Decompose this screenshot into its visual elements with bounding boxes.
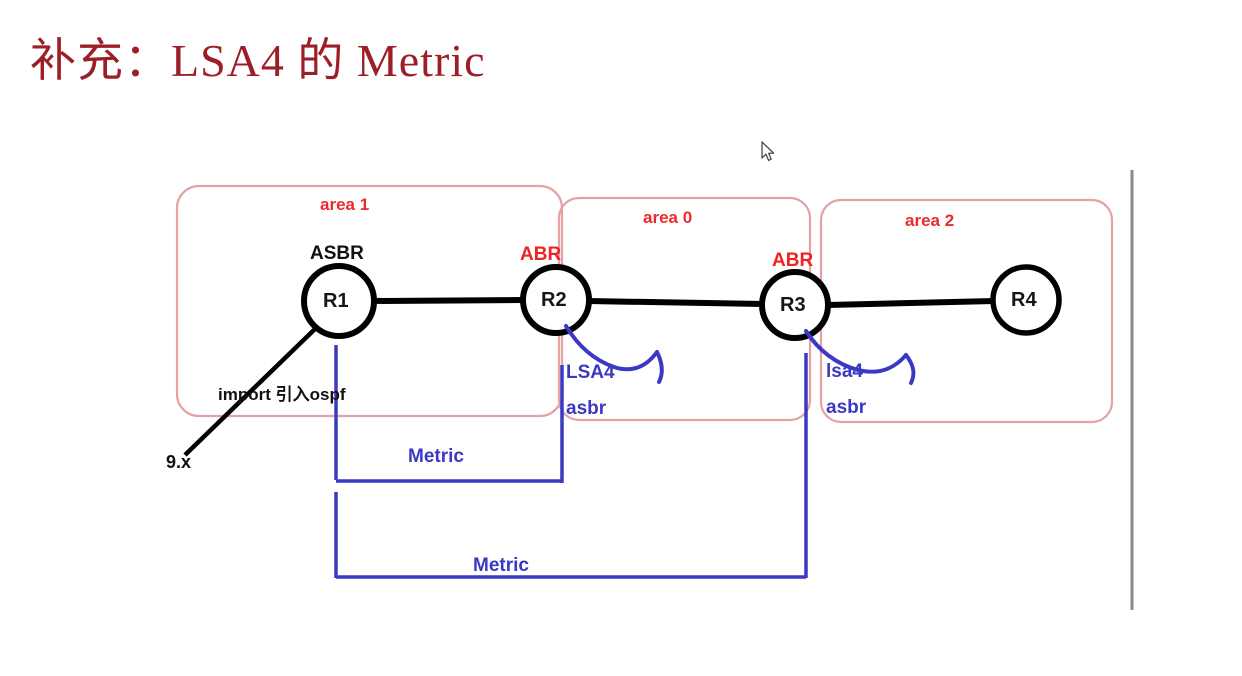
lsa-type-label-r2: LSA4: [566, 362, 615, 384]
external-network-label: 9.x: [166, 452, 191, 473]
lsa-arrowhead-r3: [906, 355, 913, 383]
lsa-id-label-r3: asbr: [826, 397, 866, 419]
slide-canvas: 补充：LSA4 的 Metric: [0, 0, 1242, 676]
lsa-id-label-r2: asbr: [566, 398, 606, 420]
router-label-r3: R3: [780, 294, 806, 317]
area-label-area-1: area 1: [320, 195, 369, 215]
role-label-r2-abr: ABR: [520, 244, 561, 266]
lsa-arrowhead-r2: [657, 352, 662, 382]
import-ospf-note: import 引入ospf: [218, 380, 346, 405]
lsa-type-label-r3: lsa4: [826, 361, 863, 383]
metric-label-r1-r2: Metric: [408, 446, 464, 468]
router-label-r2: R2: [541, 289, 567, 312]
mouse-pointer-icon: [760, 141, 776, 163]
area-box-area-2: [821, 200, 1112, 422]
role-label-r1-asbr: ASBR: [310, 243, 364, 265]
metric-label-r1-r3: Metric: [473, 555, 529, 577]
network-diagram: [0, 0, 1242, 676]
link-r3-r4: [828, 301, 994, 305]
router-label-r4: R4: [1011, 289, 1037, 312]
link-r2-r3: [588, 301, 763, 304]
role-label-r3-abr: ABR: [772, 250, 813, 272]
area-label-area-2: area 2: [905, 211, 954, 231]
router-label-r1: R1: [323, 290, 349, 313]
link-r1-r2: [372, 300, 524, 301]
area-label-area-0: area 0: [643, 208, 692, 228]
